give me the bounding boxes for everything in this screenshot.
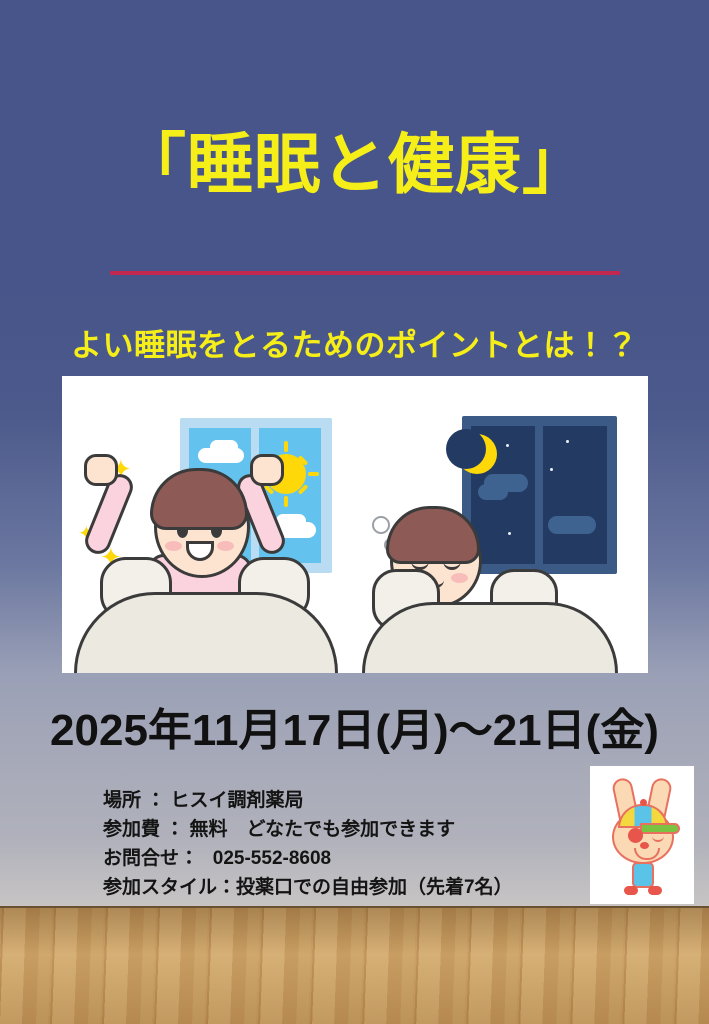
poster-canvas: 「睡眠と健康」 よい睡眠をとるためのポイントとは！？ [0, 0, 709, 1024]
rabbit-cap-brim [640, 823, 680, 834]
rabbit-mascot-icon [590, 766, 694, 904]
blanket [362, 602, 618, 673]
rabbit-body [632, 862, 654, 888]
rabbit-shoe-right [648, 886, 662, 895]
detail-contact: お問合せ ： 025-552-8608 [103, 844, 583, 873]
wooden-floor [0, 906, 709, 1024]
divider-line [110, 271, 620, 275]
illustration-panel: ✦ ✦ ✦ [62, 376, 648, 673]
rabbit-cap-button [640, 799, 647, 806]
detail-style: 参加スタイル：投薬口での自由参加（先着7名） [103, 873, 583, 902]
blanket [74, 592, 338, 673]
crescent-moon-icon [457, 434, 497, 474]
rabbit-shoe-left [624, 886, 638, 895]
subtitle: よい睡眠をとるためのポイントとは！？ [0, 320, 709, 365]
event-date: 2025年11月17日(月)～21日(金) [0, 694, 709, 758]
fist-left [84, 454, 118, 486]
event-details: 場所 ： ヒスイ調剤薬局 参加費 ： 無料 どなたでも参加できます お問合せ ：… [103, 786, 583, 902]
detail-fee: 参加費 ： 無料 どなたでも参加できます [103, 815, 583, 844]
page-title: 「睡眠と健康」 [0, 128, 709, 202]
night-scene [362, 376, 648, 673]
rabbit-eye [628, 828, 643, 843]
detail-location: 場所 ： ヒスイ調剤薬局 [103, 786, 583, 815]
fist-right [250, 454, 284, 486]
sleep-bubble [372, 516, 390, 534]
morning-scene: ✦ ✦ ✦ [62, 376, 362, 673]
